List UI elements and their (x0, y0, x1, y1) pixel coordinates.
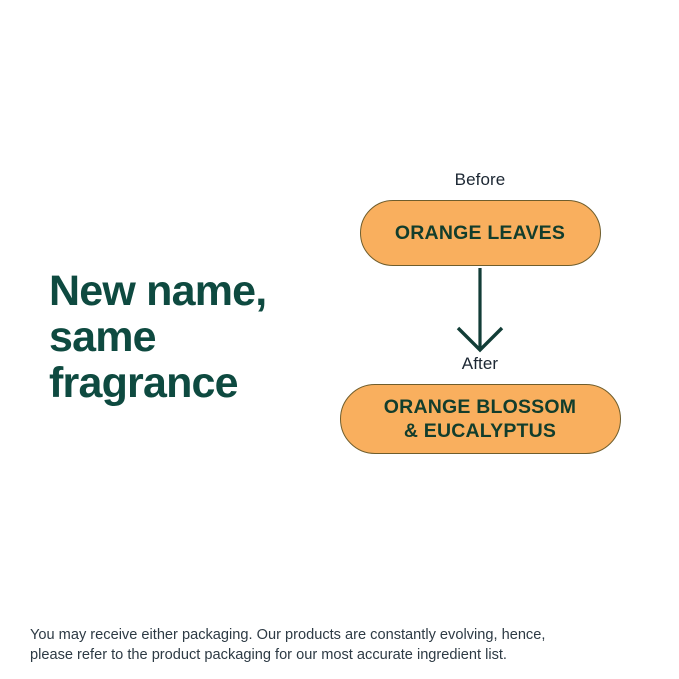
disclaimer-line-1: You may receive either packaging. Our pr… (30, 625, 650, 645)
after-label: After (330, 354, 630, 374)
before-product-name: ORANGE LEAVES (389, 222, 571, 245)
headline-line-2: same (49, 314, 319, 360)
name-change-flow: Before ORANGE LEAVES After ORANGE BLOSSO… (330, 170, 630, 454)
headline: New name, same fragrance (49, 268, 319, 406)
after-product-name: ORANGE BLOSSOM & EUCALYPTUS (378, 395, 582, 443)
flow-arrow (330, 266, 630, 354)
headline-line-1: New name, (49, 268, 319, 314)
disclaimer-line-2: please refer to the product packaging fo… (30, 645, 650, 665)
after-product-name-line-1: ORANGE BLOSSOM (384, 396, 576, 418)
after-product-pill: ORANGE BLOSSOM & EUCALYPTUS (340, 384, 621, 454)
before-product-pill: ORANGE LEAVES (360, 200, 601, 266)
headline-line-3: fragrance (49, 360, 319, 406)
promo-canvas: New name, same fragrance Before ORANGE L… (0, 0, 679, 679)
after-product-name-line-2: & EUCALYPTUS (384, 419, 576, 443)
arrow-down-icon (450, 266, 510, 354)
disclaimer-text: You may receive either packaging. Our pr… (30, 625, 650, 665)
before-label: Before (330, 170, 630, 190)
